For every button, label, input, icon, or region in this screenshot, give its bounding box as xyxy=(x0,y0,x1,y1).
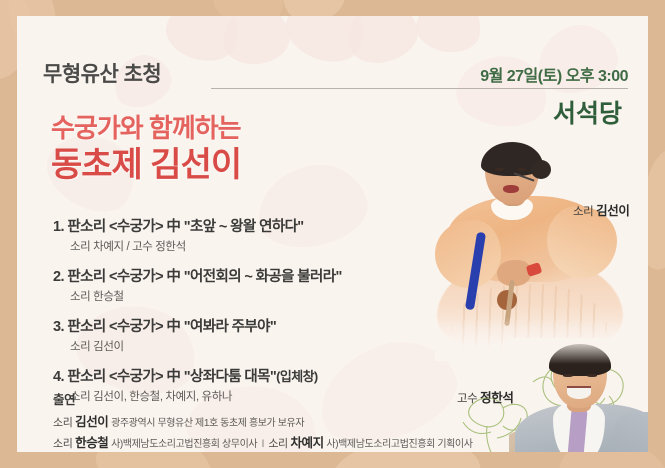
program-title-line: 2. 판소리 <수궁가> 中 "어전회의 ~ 화공을 불러라" xyxy=(53,265,453,286)
program-piece: 판소리 <수궁가> 中 "상좌다툼 대목" xyxy=(67,369,276,385)
credit-role-2: 소리 xyxy=(268,438,287,450)
credit-person-2: 차예지 xyxy=(290,436,323,450)
program-title-line: 3. 판소리 <수궁가> 中 "여봐라 주부야" xyxy=(53,315,453,336)
credit-role: 소리 xyxy=(53,438,72,450)
program-cast: 소리 차예지 / 고수 정한석 xyxy=(70,238,453,254)
program-cast: 소리 한승철 xyxy=(70,288,453,304)
program-number: 1. xyxy=(53,219,64,235)
drummer-right-eye xyxy=(587,374,597,377)
singer-right-eye xyxy=(517,168,526,171)
program-list: 1. 판소리 <수궁가> 中 "초앞 ~ 왕왈 연하다" 소리 차예지 / 고수… xyxy=(53,215,453,415)
program-piece: 판소리 <수궁가> 中 "어전회의 ~ 화공을 불러라" xyxy=(67,269,341,285)
header-row: 무형유산 초청 9월 27일(토) 오후 3:00 xyxy=(43,58,628,92)
title-line-1: 수궁가와 함께하는 xyxy=(51,114,431,144)
program-piece: 판소리 <수궁가> 中 "여봐라 주부야" xyxy=(67,319,276,335)
credit-person: 김선이 xyxy=(75,415,108,429)
photo-label-drummer-name: 정한석 xyxy=(480,391,513,405)
credit-person: 한승철 xyxy=(75,436,108,450)
credit-description: 사)백제남도소리고법진흥회 상무이사 xyxy=(111,439,257,450)
program-number: 4. xyxy=(53,369,64,385)
invite-title: 무형유산 초청 xyxy=(43,58,161,88)
program-title-line: 4. 판소리 <수궁가> 中 "상좌다툼 대목"(입체창) xyxy=(53,365,453,386)
program-item: 3. 판소리 <수궁가> 中 "여봐라 주부야" 소리 김선이 xyxy=(53,315,453,354)
program-cast: 소리 김선이 xyxy=(70,338,453,354)
photo-singer-kim-seon-i xyxy=(435,144,625,359)
program-suffix: (입체창) xyxy=(276,369,318,384)
program-number: 2. xyxy=(53,269,64,285)
photo-label-singer-role: 소리 xyxy=(573,206,593,218)
program-item: 1. 판소리 <수궁가> 中 "초앞 ~ 왕왈 연하다" 소리 차예지 / 고수… xyxy=(53,215,453,254)
photo-label-drummer-role: 고수 xyxy=(457,393,477,405)
photo-label-singer: 소리 김선이 xyxy=(573,200,629,219)
background-petal xyxy=(413,16,486,57)
poster-title-block: 수궁가와 함께하는 동초제 김선이 xyxy=(51,114,431,185)
venue-name: 서석당 xyxy=(553,94,622,130)
singer-mouth xyxy=(503,185,519,193)
title-line-2: 동초제 김선이 xyxy=(51,146,431,185)
singer-left-eye xyxy=(495,168,504,171)
drummer-smile xyxy=(567,386,591,399)
header-divider-rule xyxy=(211,88,628,89)
credit-description-2: 사)백제남도소리고법진흥회 기획이사 xyxy=(326,439,472,450)
poster-inner-panel: 무형유산 초청 9월 27일(토) 오후 3:00 서석당 수궁가와 함께하는 … xyxy=(17,16,648,452)
photo-drummer-jeong-han-seok xyxy=(509,338,648,452)
program-piece: 판소리 <수궁가> 中 "초앞 ~ 왕왈 연하다" xyxy=(67,219,303,235)
credit-description: 광주광역시 무형유산 제1호 동초제 흥보가 보유자 xyxy=(111,418,304,429)
program-number: 3. xyxy=(53,319,64,335)
credit-separator: l xyxy=(260,439,266,450)
photo-label-drummer: 고수 정한석 xyxy=(457,387,513,406)
event-datetime: 9월 27일(토) 오후 3:00 xyxy=(480,62,628,86)
drummer-left-eye xyxy=(563,374,573,377)
poster-canvas: 무형유산 초청 9월 27일(토) 오후 3:00 서석당 수궁가와 함께하는 … xyxy=(0,0,665,468)
singer-hair-bun xyxy=(531,160,551,179)
program-item: 2. 판소리 <수궁가> 中 "어전회의 ~ 화공을 불러라" 소리 한승철 xyxy=(53,265,453,304)
drummer-photo-fade xyxy=(509,338,648,364)
singer-left-sleeve xyxy=(435,220,501,288)
credit-role: 소리 xyxy=(53,417,72,429)
photo-label-singer-name: 김선이 xyxy=(596,204,629,218)
program-title-line: 1. 판소리 <수궁가> 中 "초앞 ~ 왕왈 연하다" xyxy=(53,215,453,236)
